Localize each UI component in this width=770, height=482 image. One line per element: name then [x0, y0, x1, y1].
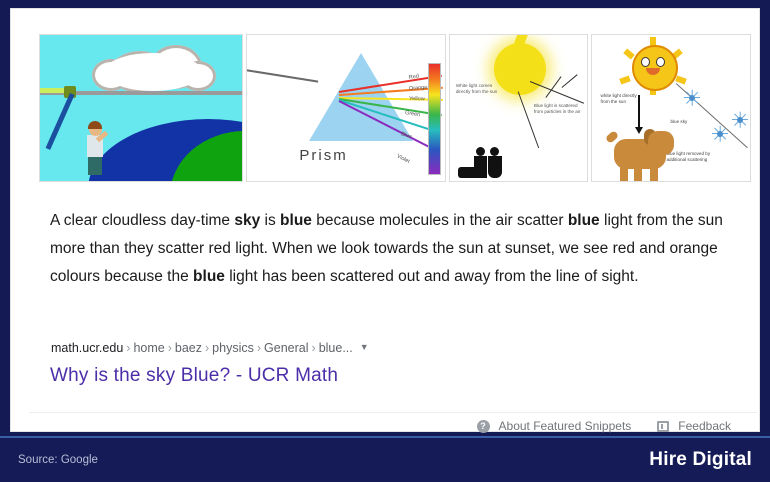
snippet-seg-5: light has been scattered out and away fr… [225, 268, 639, 285]
about-featured-snippets-link[interactable]: ? About Featured Snippets [477, 419, 632, 433]
breadcrumb-part-4: General [264, 341, 308, 355]
thumbnail-cartoon-sun-dog-scattering-diagram[interactable]: white light directly from the sun blue s… [591, 34, 751, 182]
annotation-blue-removed: blue light removed by additional scatter… [666, 151, 728, 163]
about-featured-snippets-label: About Featured Snippets [499, 419, 632, 433]
annotation-white-light-direct: white light directly from the sun [600, 93, 646, 105]
featured-snippet-card: et Prism Red Orange Yellow Green Blue Vi… [10, 8, 760, 432]
thumbnail-sun-scattering-people-diagram[interactable]: White light comes directly from the sun … [449, 34, 589, 182]
breadcrumb-sep-2: › [165, 341, 175, 355]
breadcrumb-sep-4: › [254, 341, 264, 355]
observer-figure [84, 123, 108, 175]
thumbnail-strip: et Prism Red Orange Yellow Green Blue Vi… [39, 34, 751, 182]
prism-label: Prism [299, 147, 347, 164]
card-footer: ? About Featured Snippets Feedback [477, 419, 731, 433]
screenshot-root: et Prism Red Orange Yellow Green Blue Vi… [0, 0, 770, 482]
breadcrumb-sep-3: › [202, 341, 212, 355]
card-divider [29, 412, 757, 413]
breadcrumb[interactable]: math.ucr.edu›home›baez›physics›General›b… [51, 341, 369, 355]
feedback-link[interactable]: Feedback [657, 419, 731, 433]
feedback-card-icon [657, 421, 669, 432]
snippet-bold-blue-3: blue [193, 268, 225, 285]
sun-icon [494, 43, 546, 95]
breadcrumb-sep-1: › [123, 341, 133, 355]
dog-head [648, 131, 674, 155]
snippet-bold-sky: sky [234, 212, 260, 229]
card-inner: et Prism Red Orange Yellow Green Blue Vi… [19, 15, 753, 427]
question-mark-circle-icon: ? [477, 420, 490, 433]
result-title-link[interactable]: Why is the sky Blue? - UCR Math [50, 365, 338, 387]
thumbnail-prism-dispersion-diagram[interactable]: et Prism Red Orange Yellow Green Blue Vi… [246, 34, 445, 182]
chevron-down-icon[interactable]: ▼ [360, 342, 369, 352]
dog-silhouette [458, 167, 480, 178]
feedback-label: Feedback [678, 419, 731, 433]
spectrum-bar [428, 63, 441, 175]
sun-face [640, 57, 666, 75]
featured-snippet-text: A clear cloudless day-time sky is blue b… [50, 207, 756, 291]
footer-bar: Source: Google Hire Digital [0, 438, 770, 482]
green-ray [40, 88, 66, 93]
snippet-bold-blue-2: blue [568, 212, 600, 229]
breadcrumb-part-1: home [133, 341, 164, 355]
breadcrumb-part-5: blue... [319, 341, 353, 355]
thumbnail-sky-observer-diagram[interactable] [39, 34, 243, 182]
brand-logo-text: Hire Digital [649, 449, 752, 471]
breadcrumb-sep-5: › [309, 341, 319, 355]
snippet-seg-3: because molecules in the air scatter [312, 212, 568, 229]
cloud-icon [92, 41, 217, 96]
annotation-blue-sky: blue sky [670, 119, 704, 125]
snippet-seg-1: A clear cloudless day-time [50, 212, 234, 229]
snippet-bold-blue-1: blue [280, 212, 312, 229]
annotation-blue-scattered: Blue light is scattered from particles i… [534, 103, 582, 115]
annotation-white-light: White light comes directly from the sun [456, 83, 500, 95]
source-label: Source: Google [18, 454, 98, 466]
ray-label-yellow: Yellow [409, 96, 425, 102]
breadcrumb-domain: math.ucr.edu [51, 341, 123, 355]
breadcrumb-part-3: physics [212, 341, 254, 355]
snippet-seg-2: is [260, 212, 280, 229]
breadcrumb-part-2: baez [175, 341, 202, 355]
